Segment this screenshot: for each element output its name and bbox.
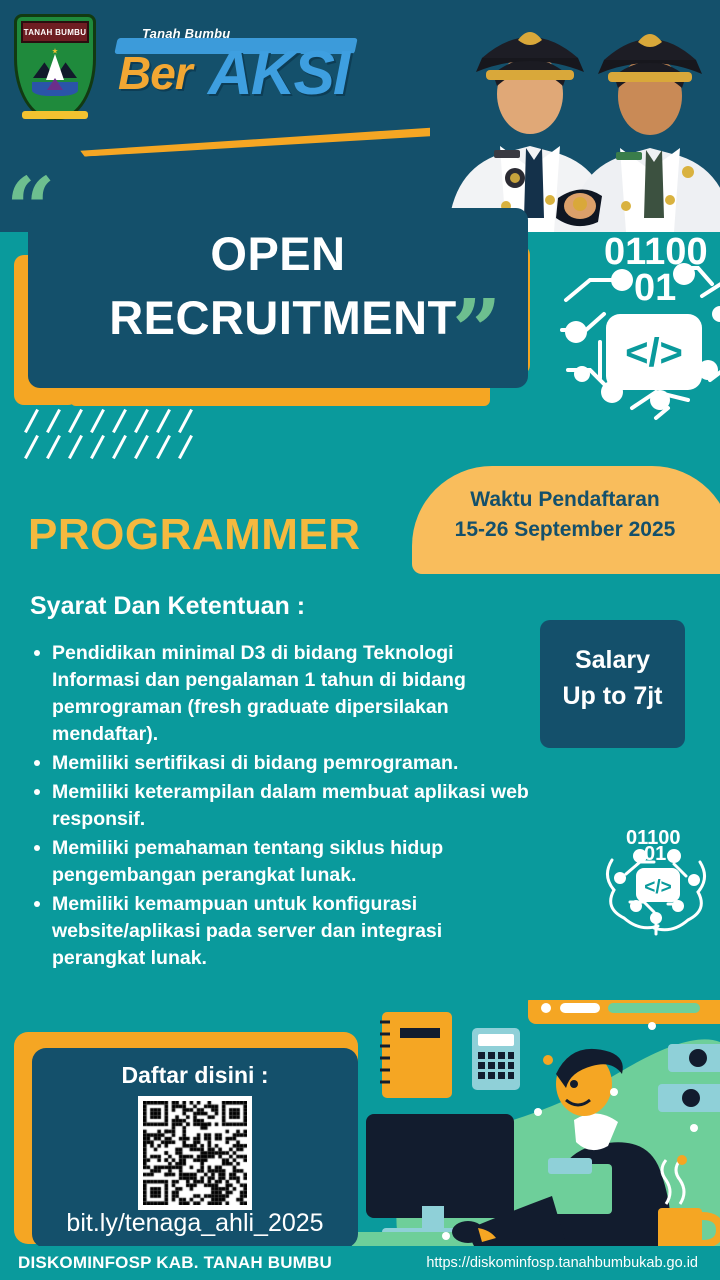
poster-header: TANAH BUMBU Tanah Bumbu Ber AKSI [0,0,720,232]
footer-bar: DISKOMINFOSP KAB. TANAH BUMBU https://di… [0,1246,720,1280]
tanah-bumbu-crest-icon: TANAH BUMBU [14,14,96,120]
website-url[interactable]: https://diskominfosp.tanahbumbukab.go.id [426,1255,698,1271]
department-name: DISKOMINFOSP KAB. TANAH BUMBU [18,1253,332,1273]
logo-kicker: Tanah Bumbu [142,26,230,41]
diagonal-slash-decor [30,408,210,464]
requirements-heading: Syarat Dan Ketentuan : [30,592,305,621]
register-short-url[interactable]: bit.ly/tenaga_ahli_2025 [32,1209,358,1238]
quote-close-icon: ” [452,300,501,364]
qr-code[interactable] [138,1096,252,1210]
list-item: Pendidikan minimal D3 di bidang Teknolog… [30,640,530,748]
salary-amount: Up to 7jt [540,682,685,711]
binary-bottom-large: 01 [634,267,676,309]
role-title: PROGRAMMER [28,510,361,560]
logo-aksi: AKSI [208,38,348,109]
code-glyph-large: </> [625,331,683,375]
register-card[interactable]: Daftar disini : bit.ly/tenaga_ahli_2025 [14,1032,358,1248]
officials-photo [430,0,720,232]
recruitment-poster: TANAH BUMBU Tanah Bumbu Ber AKSI [0,0,720,1280]
logo-ber: Ber [118,46,192,100]
list-item: Memiliki pemahaman tentang siklus hidup … [30,835,530,889]
list-item: Memiliki sertifikasi di bidang pemrogram… [30,750,530,777]
circuit-brain-icon-small: 01100 01 </> [596,818,716,938]
desk-worker-illustration [352,1000,720,1250]
registration-dates: 15-26 September 2025 [412,518,718,542]
register-card-body: Daftar disini : bit.ly/tenaga_ahli_2025 [32,1048,358,1248]
binary-bottom-small: 01 [644,843,666,865]
title-line-1: OPEN [28,226,528,281]
registration-label: Waktu Pendaftaran [412,488,718,512]
salary-badge: Salary Up to 7jt [540,620,685,748]
crest-label: TANAH BUMBU [24,28,87,37]
circuit-brain-icon-large: 01100 01 </> [560,222,720,427]
registration-period-card: Waktu Pendaftaran 15-26 September 2025 [412,466,720,574]
requirements-list: Pendidikan minimal D3 di bidang Teknolog… [30,640,530,974]
salary-label: Salary [540,646,685,675]
code-glyph-small: </> [644,877,671,898]
beraksi-logo: Tanah Bumbu Ber AKSI [112,24,362,98]
register-heading: Daftar disini : [32,1062,358,1089]
list-item: Memiliki keterampilan dalam membuat apli… [30,779,530,833]
list-item: Memiliki kemampuan untuk konfigurasi web… [30,891,530,972]
